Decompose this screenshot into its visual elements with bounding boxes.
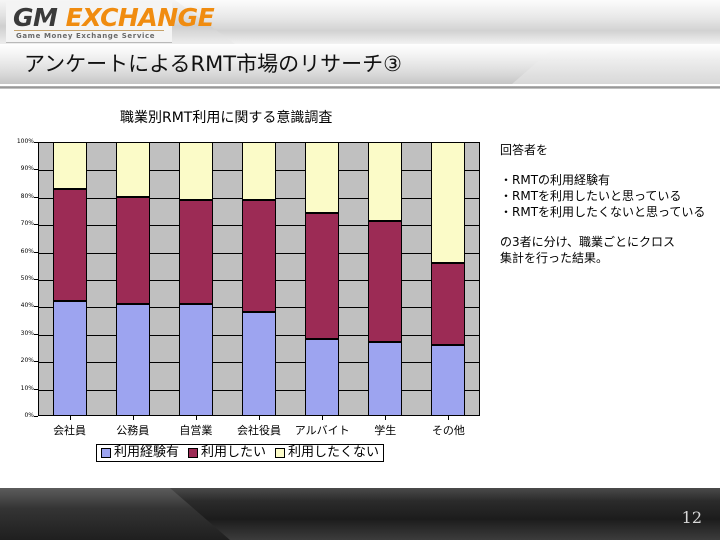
bar-stack — [179, 142, 213, 416]
chart-legend: 利用経験有利用したい利用したくない — [96, 444, 384, 462]
bar-stack — [242, 142, 276, 416]
y-axis-tick-label: 40% — [0, 302, 34, 309]
x-axis-category-label: その他 — [432, 422, 465, 438]
y-axis-tick-label: 100% — [0, 138, 34, 145]
side-note-bullets: ・RMTの利用経験有・RMTを利用したいと思っている・RMTを利用したくないと思… — [500, 172, 718, 220]
legend-label: 利用経験有 — [114, 446, 179, 460]
y-axis-tick-label: 80% — [0, 193, 34, 200]
legend-item: 利用経験有 — [101, 446, 179, 460]
side-note: 回答者を ・RMTの利用経験有・RMTを利用したいと思っている・RMTを利用した… — [500, 142, 718, 266]
bar-segment — [431, 142, 465, 263]
x-axis-tick-mark — [133, 416, 134, 420]
legend-label: 利用したくない — [288, 446, 379, 460]
side-note-closing: の3者に分け、職業ごとにクロス集計を行った結果。 — [500, 234, 718, 266]
chart-title: 職業別RMT利用に関する意識調査 — [120, 107, 332, 127]
side-note-closing-line: 集計を行った結果。 — [500, 250, 718, 266]
x-axis-tick-mark — [259, 416, 260, 420]
x-axis-category-label: 自営業 — [179, 422, 212, 438]
bar-segment — [242, 200, 276, 312]
bar-stack — [53, 142, 87, 416]
bar-segment — [368, 142, 402, 221]
bar-segment — [179, 304, 213, 416]
bar-segment — [431, 263, 465, 345]
bar-segment — [179, 142, 213, 200]
x-axis-category-label: 会社員 — [53, 422, 86, 438]
legend-swatch — [275, 448, 285, 458]
bar-segment — [53, 301, 87, 416]
bar-segment — [116, 304, 150, 416]
header-decorative-shape — [175, 0, 720, 44]
bar-stack — [305, 142, 339, 416]
bar-stack — [368, 142, 402, 416]
logo-divider — [14, 30, 164, 31]
side-note-bullet: ・RMTを利用したいと思っている — [500, 188, 718, 204]
x-axis-category-label: アルバイト — [295, 422, 350, 438]
slide: GM EXCHANGE Game Money Exchange Service … — [0, 0, 720, 540]
y-axis-tick-label: 70% — [0, 220, 34, 227]
bar-segment — [368, 221, 402, 342]
brand-logo: GM EXCHANGE Game Money Exchange Service — [6, 2, 172, 43]
y-axis-tick-label: 0% — [0, 412, 34, 419]
chart: 0%10%20%30%40%50%60%70%80%90%100% 会社員公務員… — [8, 136, 488, 432]
logo-wordmark: GM EXCHANGE — [13, 3, 214, 32]
bar-stack — [431, 142, 465, 416]
bar-segment — [305, 339, 339, 416]
bar-segment — [431, 345, 465, 416]
side-note-intro-line: 回答者を — [500, 142, 718, 158]
title-underline — [0, 86, 720, 89]
x-axis-tick-mark — [448, 416, 449, 420]
y-axis-tick-label: 50% — [0, 275, 34, 282]
logo-secondary-text: EXCHANGE — [66, 3, 215, 32]
bar-segment — [368, 342, 402, 416]
bar-stack — [116, 142, 150, 416]
x-axis-tick-mark — [196, 416, 197, 420]
page-number: 12 — [682, 508, 702, 527]
bar-segment — [53, 142, 87, 189]
legend-swatch — [188, 448, 198, 458]
side-note-closing-line: の3者に分け、職業ごとにクロス — [500, 234, 718, 250]
bar-segment — [242, 312, 276, 416]
bar-segment — [116, 142, 150, 197]
legend-swatch — [101, 448, 111, 458]
legend-item: 利用したい — [188, 446, 266, 460]
side-note-intro: 回答者を — [500, 142, 718, 158]
bar-segment — [305, 213, 339, 339]
y-axis-tick-label: 90% — [0, 165, 34, 172]
y-axis-tick-mark — [34, 416, 38, 417]
page-title: アンケートによるRMT市場のリサーチ③ — [24, 48, 402, 78]
x-axis-tick-mark — [70, 416, 71, 420]
x-axis-category-label: 公務員 — [116, 422, 149, 438]
bar-segment — [242, 142, 276, 200]
y-axis-tick-label: 10% — [0, 385, 34, 392]
side-note-bullet: ・RMTを利用したくないと思っている — [500, 204, 718, 220]
y-axis-tick-label: 60% — [0, 248, 34, 255]
bar-segment — [116, 197, 150, 304]
legend-label: 利用したい — [201, 446, 266, 460]
logo-primary-text: GM — [13, 3, 57, 32]
logo-tagline: Game Money Exchange Service — [16, 32, 155, 40]
y-axis-tick-label: 30% — [0, 330, 34, 337]
x-axis-category-label: 学生 — [374, 422, 396, 438]
bar-segment — [53, 189, 87, 301]
x-axis-category-label: 会社役員 — [237, 422, 281, 438]
bar-segment — [179, 200, 213, 304]
legend-item: 利用したくない — [275, 446, 379, 460]
x-axis-tick-mark — [322, 416, 323, 420]
bar-segment — [305, 142, 339, 213]
y-axis-tick-label: 20% — [0, 357, 34, 364]
x-axis-tick-mark — [385, 416, 386, 420]
side-note-bullet: ・RMTの利用経験有 — [500, 172, 718, 188]
bars-layer — [38, 142, 480, 416]
